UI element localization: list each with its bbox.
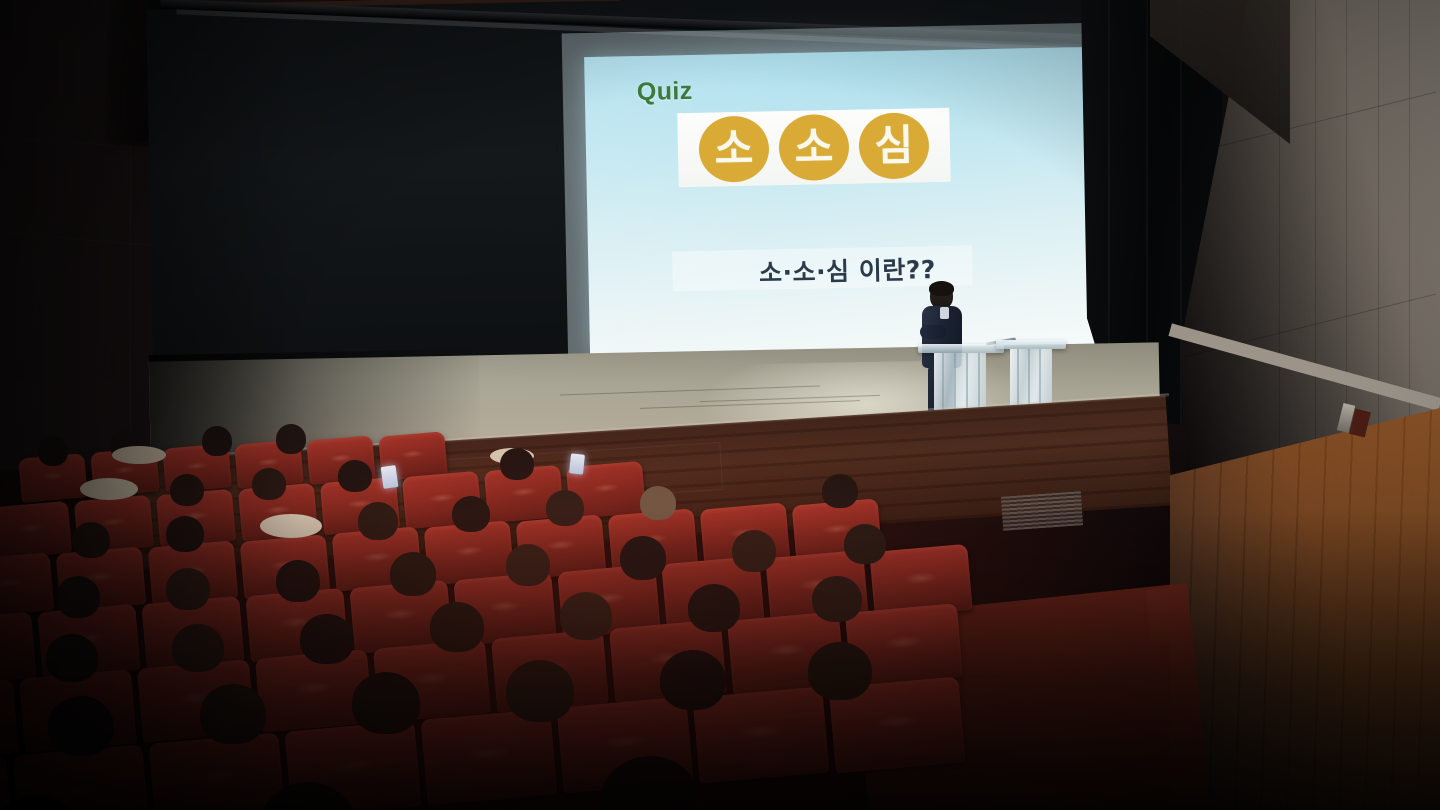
logo-coin-2: 소 [778,114,849,181]
seat [0,501,72,559]
seat [0,552,54,617]
logo-coin-1: 소 [698,115,769,182]
audience-head [252,468,286,500]
audience-head [844,524,886,564]
audience-head [390,552,436,596]
lectern-top [996,340,1066,349]
audience-head [358,502,398,540]
audience-head [688,584,740,632]
audience-sun-hat [112,446,166,464]
audience-head [660,650,726,710]
presentation-slide: Quiz 소 소 심 소·소·심 이란?? [584,47,1108,357]
audience-head [276,424,306,454]
audience-head [172,624,224,672]
projection-screen: Quiz 소 소 심 소·소·심 이란?? [562,23,1117,376]
lectern-top [918,344,1004,353]
presenter-hair [929,281,954,296]
audience-head [640,486,676,520]
audience-head [560,592,612,640]
audience-head [500,448,534,480]
audience-sun-hat [80,478,138,500]
audience-head [620,536,666,580]
seat [148,732,285,810]
audience-head [166,516,204,552]
audience-head [808,642,872,700]
audience-head [452,496,490,532]
presenter-arm [920,325,946,339]
presenter-shirt [940,307,949,319]
audience-phone-screen [381,465,399,489]
audience-head [506,660,574,722]
audience-head [166,568,210,610]
slide-heading: Quiz [637,77,693,107]
audience-head [300,614,354,664]
audience-head [72,522,110,558]
seat [0,679,19,762]
seat [0,612,37,686]
audience-head [430,602,484,652]
seat [420,708,557,805]
audience-phone-screen [569,453,585,474]
audience-head [46,634,98,682]
audience-head [506,544,550,586]
audience-head [56,576,100,618]
audience-head [170,474,204,506]
audience-sun-hat [260,514,322,538]
audience-seating [0,430,1160,810]
audience-head [732,530,776,572]
audience-head [352,672,420,734]
audience-head [338,460,372,492]
audience-head [202,426,232,456]
audience-head [276,560,320,602]
audience-head [546,490,584,526]
audience-head [812,576,862,622]
right-wall-wood-grain [1170,408,1440,810]
auditorium-photo: Quiz 소 소 심 소·소·심 이란?? [0,0,1440,810]
audience-head [38,436,68,466]
logo-row: 소 소 심 [681,110,946,185]
audience-head [200,684,266,744]
logo-coin-3: 심 [858,112,929,179]
audience-head [822,474,858,508]
audience-head [48,696,114,756]
